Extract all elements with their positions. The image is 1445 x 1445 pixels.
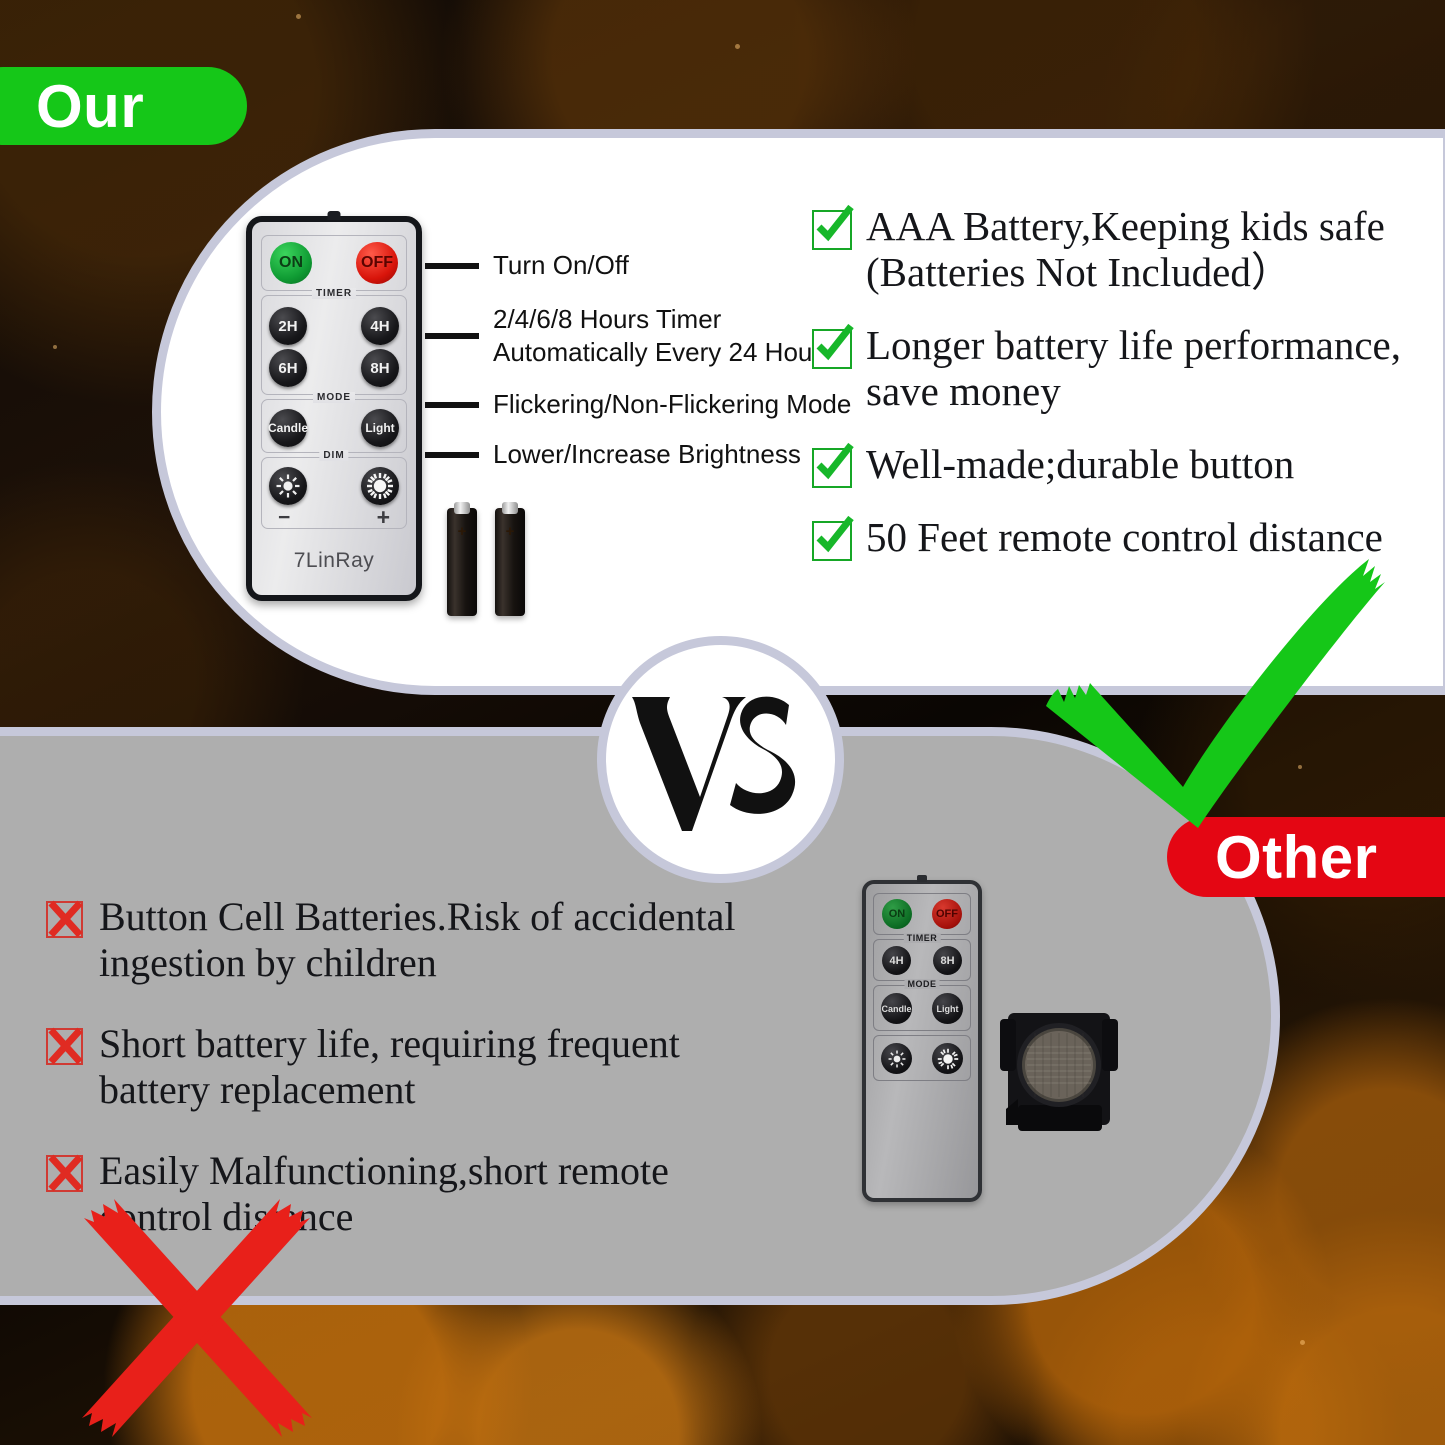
con-item-text: Short battery life, requiring frequent b… — [99, 1021, 680, 1112]
checkmark-icon — [811, 320, 857, 366]
remote-dim-minus-label: − — [278, 506, 290, 530]
bokeh-speck — [1300, 1340, 1305, 1345]
callout-brightness-text: Lower/Increase Brightness — [493, 438, 801, 471]
big-red-x-icon — [62, 1196, 332, 1445]
checkmark-icon — [811, 201, 857, 247]
remote-dim-group: DIM — [261, 457, 407, 529]
our-badge: Our — [0, 67, 247, 145]
cross-box — [46, 1155, 83, 1192]
con-item-text: Button Cell Batteries.Risk of accidental… — [99, 894, 736, 985]
bokeh-speck — [53, 345, 57, 349]
brightness-low-icon — [275, 473, 301, 499]
other-remote-timer-group: TIMER 4H 8H — [873, 939, 971, 981]
remote-brand-label: 7LinRay — [252, 549, 416, 573]
battery-plus-label: + — [447, 524, 477, 539]
callout-mode-text: Flickering/Non-Flickering Mode — [493, 388, 851, 421]
pro-item: Longer battery life performance, save mo… — [812, 323, 1440, 415]
cross-box — [46, 901, 83, 938]
con-item: Button Cell Batteries.Risk of accidental… — [46, 894, 786, 985]
callout-leader-line — [425, 263, 479, 269]
remote-power-group: ON OFF — [261, 235, 407, 291]
other-remote-dim-up-button[interactable] — [932, 1043, 963, 1074]
ir-emitter-icon — [917, 875, 927, 882]
other-remote-mode-group: MODE Candle Light — [873, 985, 971, 1031]
other-remote-dim-down-button[interactable] — [881, 1043, 912, 1074]
check-box — [812, 521, 852, 561]
cross-icon — [45, 1026, 86, 1067]
remote-dim-plus-label: + — [377, 504, 390, 531]
callout-power-text: Turn On/Off — [493, 249, 629, 282]
vs-badge — [597, 636, 844, 883]
callout-timer-text: 2/4/6/8 Hours Timer Automatically Every … — [493, 303, 834, 370]
remote-timer-2h-button[interactable]: 2H — [269, 307, 307, 345]
our-remote-control: ON OFF TIMER 2H 4H 6H 8H MODE Candle Lig… — [246, 216, 422, 601]
our-badge-label: Our — [36, 72, 144, 141]
other-remote-mode-label: MODE — [905, 979, 940, 989]
con-item: Short battery life, requiring frequent b… — [46, 1021, 786, 1112]
other-remote-power-group: ON OFF — [873, 893, 971, 935]
button-cell-battery-holder — [1000, 1005, 1118, 1133]
brightness-low-icon — [887, 1049, 907, 1069]
other-remote-control: ON OFF TIMER 4H 8H MODE Candle Light — [862, 880, 982, 1202]
battery-plus-label: + — [495, 524, 525, 539]
other-remote-on-button[interactable]: ON — [882, 899, 912, 929]
checkmark-icon — [811, 512, 857, 558]
pro-item-text: AAA Battery,Keeping kids safe (Batteries… — [866, 204, 1385, 296]
remote-timer-8h-button[interactable]: 8H — [361, 349, 399, 387]
aaa-battery: + — [447, 508, 477, 616]
callout-leader-line — [425, 333, 479, 339]
other-remote-off-button[interactable]: OFF — [932, 899, 962, 929]
pro-item-text: Longer battery life performance, save mo… — [866, 323, 1401, 415]
brightness-high-icon — [937, 1048, 959, 1070]
remote-mode-group: MODE Candle Light — [261, 399, 407, 453]
check-box — [812, 448, 852, 488]
remote-on-button[interactable]: ON — [270, 242, 312, 284]
bokeh-speck — [296, 14, 301, 19]
callout-leader-line — [425, 452, 479, 458]
remote-off-button[interactable]: OFF — [356, 242, 398, 284]
remote-timer-group: TIMER 2H 4H 6H 8H — [261, 295, 407, 395]
bokeh-speck — [735, 44, 740, 49]
other-remote-dim-group — [873, 1035, 971, 1081]
ir-emitter-icon — [328, 211, 341, 220]
callout-mode: Flickering/Non-Flickering Mode — [425, 388, 851, 421]
cross-box — [46, 1028, 83, 1065]
remote-dim-down-button[interactable] — [269, 467, 307, 505]
remote-mode-candle-button[interactable]: Candle — [269, 409, 307, 447]
vs-logo-icon — [626, 685, 816, 835]
pro-item-text: Well-made;durable button — [866, 442, 1294, 488]
aaa-battery: + — [495, 508, 525, 616]
other-remote-timer-label: TIMER — [904, 933, 941, 943]
other-remote-timer-8h-button[interactable]: 8H — [933, 946, 962, 975]
remote-mode-light-button[interactable]: Light — [361, 409, 399, 447]
big-green-check-icon — [1028, 553, 1388, 838]
pro-item: Well-made;durable button — [812, 442, 1440, 488]
other-remote-mode-candle-button[interactable]: Candle — [881, 993, 912, 1024]
cross-icon — [45, 1153, 86, 1194]
check-box — [812, 210, 852, 250]
callout-timer: 2/4/6/8 Hours Timer Automatically Every … — [425, 303, 834, 370]
remote-dim-label: DIM — [319, 450, 348, 461]
callout-leader-line — [425, 402, 479, 408]
remote-timer-6h-button[interactable]: 6H — [269, 349, 307, 387]
cross-icon — [45, 899, 86, 940]
remote-timer-4h-button[interactable]: 4H — [361, 307, 399, 345]
brightness-high-icon — [366, 472, 394, 500]
remote-mode-label: MODE — [313, 392, 355, 403]
callout-power: Turn On/Off — [425, 249, 629, 282]
checkmark-icon — [811, 439, 857, 485]
infographic-canvas: ON OFF TIMER 2H 4H 6H 8H MODE Candle Lig… — [0, 0, 1445, 1445]
remote-timer-label: TIMER — [312, 288, 356, 299]
other-remote-mode-light-button[interactable]: Light — [932, 993, 963, 1024]
pros-list: AAA Battery,Keeping kids safe (Batteries… — [812, 204, 1440, 588]
callout-brightness: Lower/Increase Brightness — [425, 438, 801, 471]
remote-dim-up-button[interactable] — [361, 467, 399, 505]
other-remote-timer-4h-button[interactable]: 4H — [882, 946, 911, 975]
check-box — [812, 329, 852, 369]
pro-item: AAA Battery,Keeping kids safe (Batteries… — [812, 204, 1440, 296]
